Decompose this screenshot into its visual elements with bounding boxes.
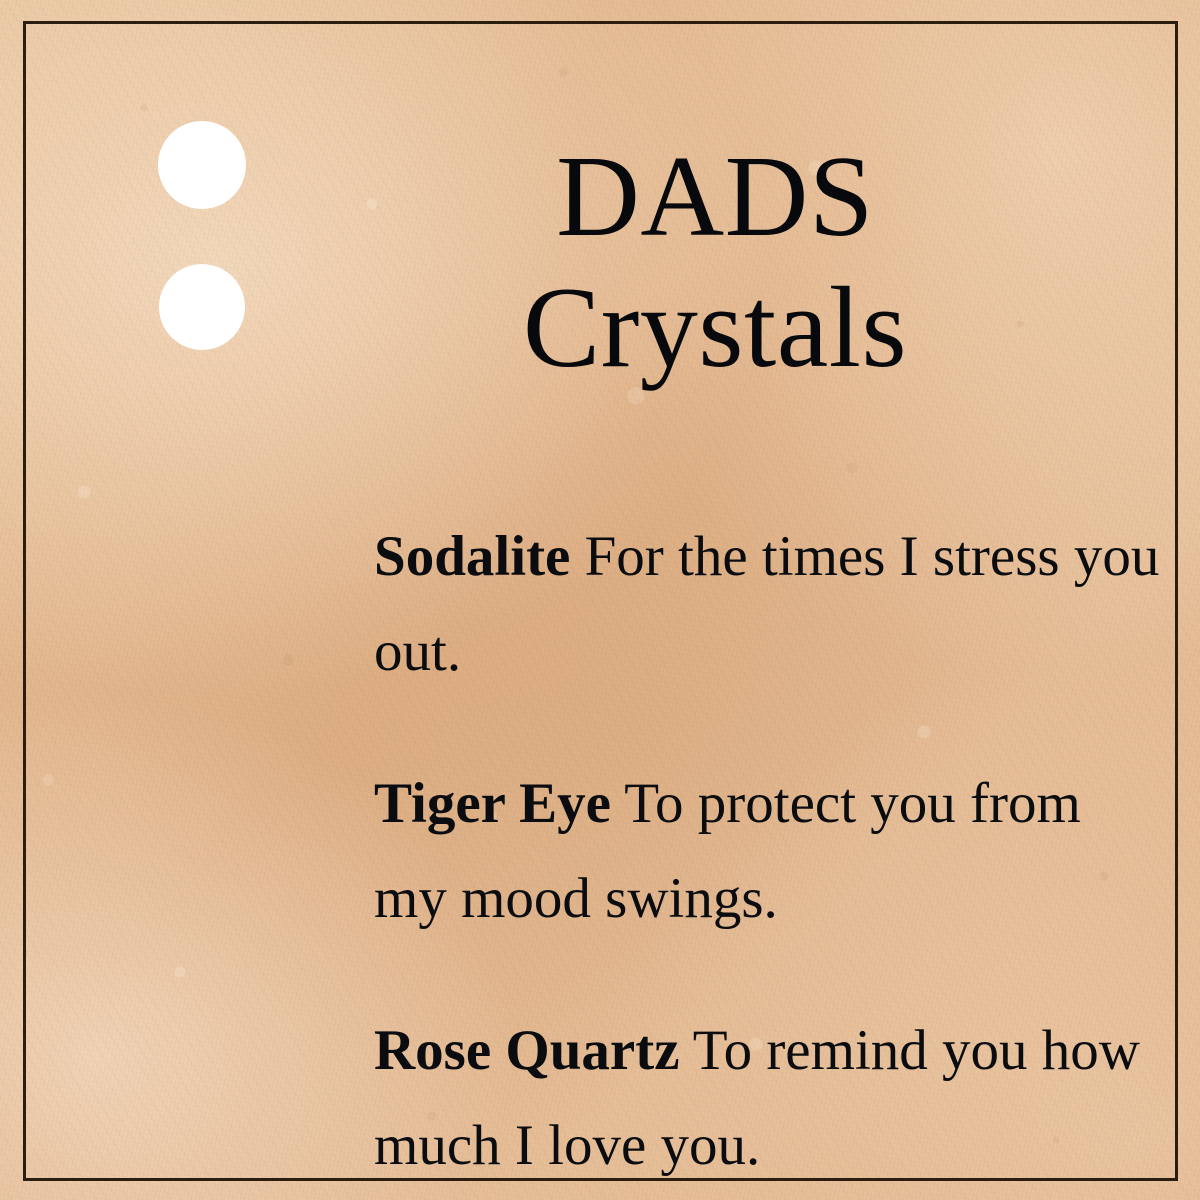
crystal-name-rose-quartz: Rose Quartz — [374, 1019, 680, 1082]
title-line-crystals: Crystals — [300, 263, 1130, 394]
crystal-entry-tiger-eye: Tiger Eye To protect you from my mood sw… — [374, 756, 1164, 946]
crystal-list: Sodalite For the times I stress you out.… — [374, 452, 1164, 1193]
crystal-name-tiger-eye: Tiger Eye — [374, 772, 611, 835]
bottom-punch-hole — [159, 264, 245, 350]
crystal-name-sodalite: Sodalite — [374, 525, 570, 588]
crystal-entry-rose-quartz: Rose Quartz To remind you how much I lov… — [374, 1003, 1164, 1193]
gift-tag-card: DADS Crystals Sodalite For the times I s… — [0, 0, 1200, 1200]
title-line-dads: DADS — [300, 132, 1130, 263]
page-title: DADS Crystals — [300, 132, 1130, 394]
top-punch-hole — [158, 121, 246, 209]
crystal-entry-sodalite: Sodalite For the times I stress you out. — [374, 509, 1164, 699]
